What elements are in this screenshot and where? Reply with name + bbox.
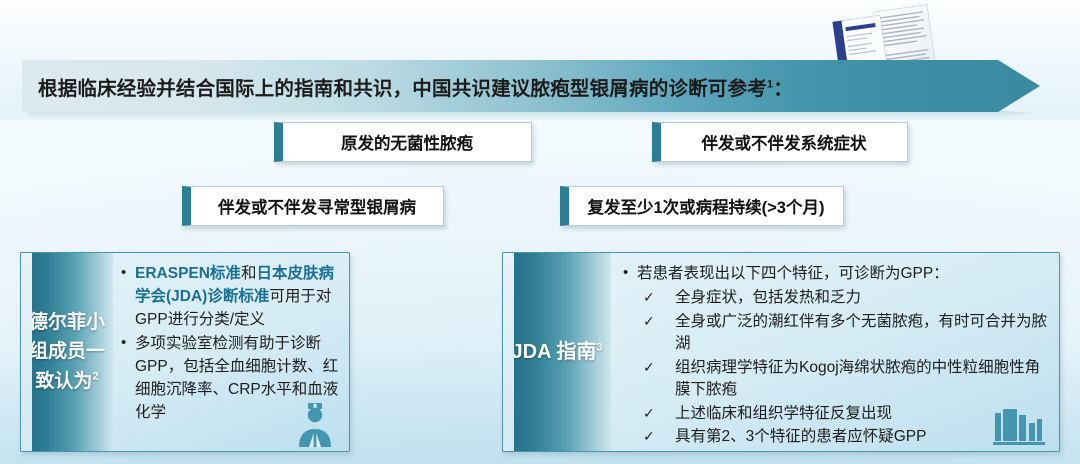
books-icon	[993, 403, 1045, 445]
criteria-label: 伴发或不伴发寻常型银屑病	[218, 194, 416, 218]
criteria-label: 复发至少1次或病程持续(>3个月)	[588, 194, 825, 218]
delphi-highlight-eraspen: ERASPEN标准	[135, 265, 241, 282]
slide-canvas: 根据临床经验并结合国际上的指南和共识，中国共识建议脓疱型银屑病的诊断可参考1： …	[0, 0, 1080, 464]
jda-check-item: 具有第2、3个特征的患者应怀疑GPP	[641, 426, 1049, 448]
criteria-box-primary-sterile-pustules[interactable]: 原发的无菌性脓疱	[274, 122, 532, 162]
criteria-box-relapse-duration[interactable]: 复发至少1次或病程持续(>3个月)	[560, 186, 844, 226]
jda-check-item: 上述临床和组织学特征反复出现	[641, 403, 1049, 425]
criteria-label: 伴发或不伴发系统症状	[702, 130, 867, 154]
panel-jda-guideline: JDA 指南3 若患者表现出以下四个特征，可诊断为GPP： 全身症状，包括发热和…	[502, 252, 1060, 452]
jda-check-list: 全身症状，包括发热和乏力 全身或广泛的潮红伴有多个无菌脓疱，有时可合并为脓湖 组…	[621, 287, 1049, 448]
jda-lead-bullet: 若患者表现出以下四个特征，可诊断为GPP：	[621, 263, 1049, 285]
jda-bullet-list: 若患者表现出以下四个特征，可诊断为GPP：	[621, 263, 1049, 285]
jda-check-item: 全身或广泛的潮红伴有多个无菌脓疱，有时可合并为脓湖	[641, 311, 1049, 356]
panel-jda-body: 若患者表现出以下四个特征，可诊断为GPP： 全身症状，包括发热和乏力 全身或广泛…	[611, 253, 1059, 451]
panel-delphi-consensus: 德尔菲小组成员一致认为2 ERASPEN标准和日本皮肤病学会(JDA)诊断标准可…	[20, 252, 350, 452]
delphi-text-and: 和	[241, 265, 257, 282]
doctor-icon	[293, 401, 337, 447]
criteria-box-plaque-psoriasis[interactable]: 伴发或不伴发寻常型银屑病	[182, 186, 444, 226]
panel-delphi-footnote-marker: 2	[92, 370, 98, 382]
panel-delphi-body: ERASPEN标准和日本皮肤病学会(JDA)诊断标准可用于对GPP进行分类/定义…	[113, 253, 349, 451]
criteria-label: 原发的无菌性脓疱	[341, 130, 473, 154]
panel-jda-tag-label: JDA 指南3	[512, 335, 603, 369]
panel-jda-footnote-marker: 3	[596, 341, 602, 353]
banner-text: 根据临床经验并结合国际上的指南和共识，中国共识建议脓疱型银屑病的诊断可参考1：	[38, 72, 793, 101]
banner-colon: ：	[773, 78, 793, 100]
panel-delphi-tag-label: 德尔菲小组成员一致认为2	[21, 308, 113, 396]
jda-check-item: 组织病理学特征为Kogoj海绵状脓疱的中性粒细胞性角膜下脓疱	[641, 357, 1049, 402]
jda-check-item: 全身症状，包括发热和乏力	[641, 287, 1049, 309]
delphi-bullet-item: ERASPEN标准和日本皮肤病学会(JDA)诊断标准可用于对GPP进行分类/定义	[119, 263, 339, 331]
jda-lead-text: 若患者表现出以下四个特征，可诊断为GPP：	[637, 265, 949, 282]
panel-jda-tag: JDA 指南3	[503, 253, 611, 451]
panel-delphi-tag: 德尔菲小组成员一致认为2	[21, 253, 113, 451]
banner-headline: 根据临床经验并结合国际上的指南和共识，中国共识建议脓疱型银屑病的诊断可参考1：	[22, 60, 1040, 112]
criteria-box-systemic-symptoms[interactable]: 伴发或不伴发系统症状	[652, 122, 908, 162]
